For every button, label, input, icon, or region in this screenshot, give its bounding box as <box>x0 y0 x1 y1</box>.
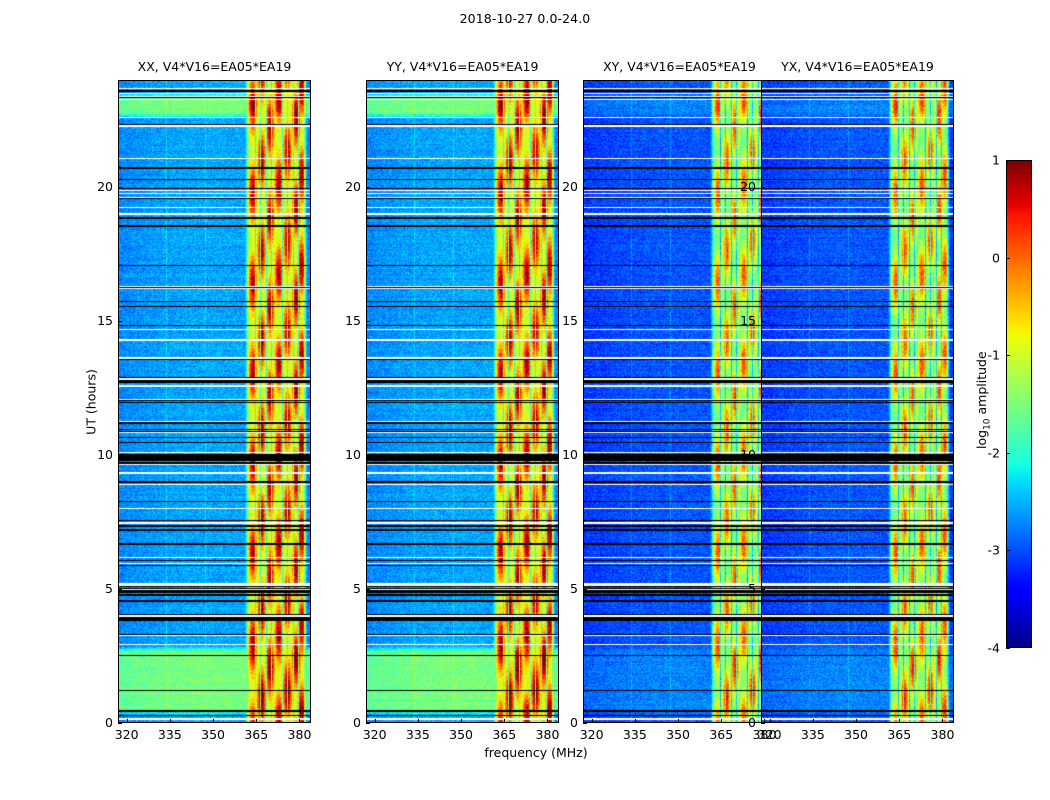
y-tick-label: 10 <box>84 449 113 462</box>
panel-title-xy: XY, V4*V16=EA05*EA19 <box>583 59 776 75</box>
y-tick-mark <box>761 723 765 724</box>
y-tick-mark <box>366 321 370 322</box>
y-tick-mark <box>366 723 370 724</box>
x-tick-label: 320 <box>580 729 604 742</box>
colorbar-label-wrap: log10 amplitude <box>978 160 988 648</box>
y-tick-label: 20 <box>727 181 756 194</box>
y-tick-label: 10 <box>332 449 361 462</box>
x-tick-label: 320 <box>758 729 782 742</box>
y-tick-label: 5 <box>727 583 756 596</box>
x-tick-label: 365 <box>244 729 268 742</box>
y-tick-mark <box>118 723 122 724</box>
x-tick-label: 380 <box>931 729 955 742</box>
x-tick-mark <box>504 719 505 723</box>
y-tick-mark <box>118 589 122 590</box>
y-tick-mark <box>366 187 370 188</box>
x-tick-mark <box>127 719 128 723</box>
y-tick-label: 15 <box>549 315 578 328</box>
colorbar-tick-label: -4 <box>964 641 1000 656</box>
x-tick-mark <box>813 719 814 723</box>
x-tick-label: 350 <box>844 729 868 742</box>
y-tick-mark <box>761 589 765 590</box>
x-tick-label: 335 <box>623 729 647 742</box>
y-tick-mark <box>761 455 765 456</box>
y-tick-mark <box>583 589 587 590</box>
colorbar-tick-label: 1 <box>964 153 1000 168</box>
x-tick-mark <box>899 719 900 723</box>
y-tick-label: 0 <box>727 717 756 730</box>
x-axis-label: frequency (MHz) <box>118 745 954 760</box>
y-tick-mark <box>761 187 765 188</box>
colorbar[interactable] <box>1006 160 1032 648</box>
y-tick-mark <box>583 723 587 724</box>
figure-suptitle: 2018-10-27 0.0-24.0 <box>0 11 1050 26</box>
colorbar-tick-label: 0 <box>964 250 1000 265</box>
x-tick-mark <box>170 719 171 723</box>
y-tick-label: 10 <box>727 449 756 462</box>
y-tick-label: 10 <box>549 449 578 462</box>
y-tick-mark <box>118 187 122 188</box>
y-tick-mark <box>366 589 370 590</box>
y-tick-mark <box>366 455 370 456</box>
y-tick-mark <box>118 321 122 322</box>
x-tick-label: 350 <box>449 729 473 742</box>
y-tick-mark <box>118 455 122 456</box>
y-tick-label: 5 <box>84 583 113 596</box>
spectrogram-panel-xy[interactable] <box>583 80 776 723</box>
y-tick-label: 0 <box>549 717 578 730</box>
colorbar-tick-label: -2 <box>964 445 1000 460</box>
y-tick-label: 0 <box>332 717 361 730</box>
x-tick-label: 380 <box>288 729 312 742</box>
x-tick-label: 335 <box>406 729 430 742</box>
x-tick-label: 320 <box>363 729 387 742</box>
x-tick-mark <box>299 719 300 723</box>
colorbar-tick-mark <box>1006 648 1010 649</box>
y-tick-label: 15 <box>727 315 756 328</box>
x-tick-label: 350 <box>666 729 690 742</box>
y-tick-label: 0 <box>84 717 113 730</box>
figure-canvas: 2018-10-27 0.0-24.0 XX, V4*V16=EA05*EA19… <box>0 0 1050 800</box>
colorbar-tick-mark <box>1006 258 1010 259</box>
panel-title-xx: XX, V4*V16=EA05*EA19 <box>118 59 311 75</box>
y-tick-label: 15 <box>84 315 113 328</box>
colorbar-tick-mark <box>1006 550 1010 551</box>
x-tick-mark <box>942 719 943 723</box>
panel-title-yy: YY, V4*V16=EA05*EA19 <box>366 59 559 75</box>
y-tick-mark <box>583 321 587 322</box>
x-tick-label: 380 <box>536 729 560 742</box>
y-axis-label-wrap: UT (hours) <box>82 80 92 723</box>
y-tick-label: 15 <box>332 315 361 328</box>
x-tick-mark <box>213 719 214 723</box>
colorbar-label-base: 10 <box>982 418 992 429</box>
x-tick-label: 365 <box>709 729 733 742</box>
y-tick-label: 20 <box>549 181 578 194</box>
x-tick-mark <box>770 719 771 723</box>
colorbar-tick-mark <box>1006 453 1010 454</box>
x-tick-label: 365 <box>492 729 516 742</box>
colorbar-tick-label: -1 <box>964 348 1000 363</box>
spectrogram-panel-yx[interactable] <box>761 80 954 723</box>
y-tick-label: 5 <box>549 583 578 596</box>
x-tick-mark <box>856 719 857 723</box>
x-tick-label: 335 <box>801 729 825 742</box>
x-tick-mark <box>721 719 722 723</box>
spectrogram-panel-yy[interactable] <box>366 80 559 723</box>
x-tick-mark <box>635 719 636 723</box>
y-tick-label: 5 <box>332 583 361 596</box>
colorbar-tick-label: -3 <box>964 543 1000 558</box>
colorbar-label: log10 amplitude <box>974 359 993 449</box>
y-tick-mark <box>583 455 587 456</box>
y-tick-label: 20 <box>84 181 113 194</box>
x-tick-mark <box>592 719 593 723</box>
y-axis-label: UT (hours) <box>83 369 98 435</box>
x-tick-label: 365 <box>887 729 911 742</box>
x-tick-mark <box>461 719 462 723</box>
x-tick-mark <box>678 719 679 723</box>
x-tick-mark <box>375 719 376 723</box>
x-tick-label: 335 <box>158 729 182 742</box>
x-tick-mark <box>256 719 257 723</box>
y-tick-label: 20 <box>332 181 361 194</box>
x-tick-mark <box>418 719 419 723</box>
x-tick-label: 320 <box>115 729 139 742</box>
colorbar-tick-mark <box>1006 160 1010 161</box>
panel-title-yx: YX, V4*V16=EA05*EA19 <box>761 59 954 75</box>
spectrogram-panel-xx[interactable] <box>118 80 311 723</box>
colorbar-tick-mark <box>1006 355 1010 356</box>
y-tick-mark <box>583 187 587 188</box>
y-tick-mark <box>761 321 765 322</box>
x-tick-label: 350 <box>201 729 225 742</box>
